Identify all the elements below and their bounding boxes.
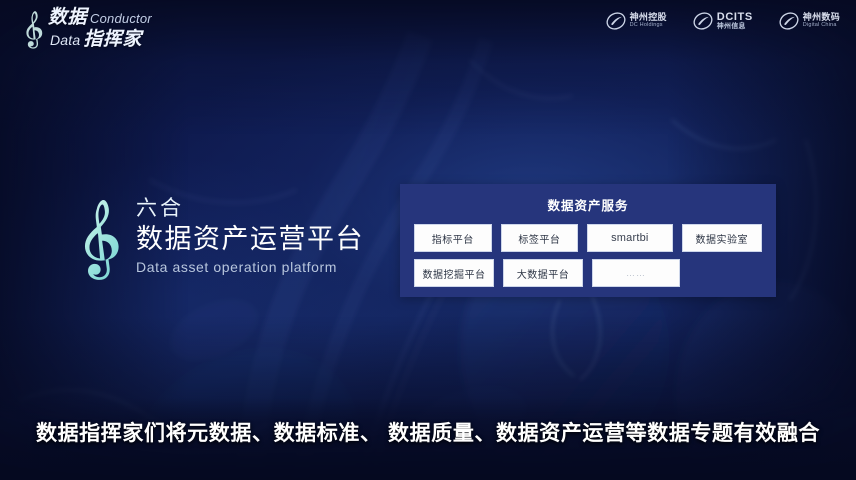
partner-logo-dcits[interactable]: DCITS 神州信息 — [693, 11, 753, 31]
data-asset-service-panel: 数据资产服务 指标平台 标签平台 smartbi 数据实验室 数据挖掘平台 大数… — [400, 184, 776, 297]
service-card-zhibiao-pingtai[interactable]: 指标平台 — [414, 224, 492, 252]
product-title: 数据资产运营平台 — [136, 226, 364, 253]
service-card-shuju-wajue-pingtai[interactable]: 数据挖掘平台 — [414, 259, 494, 287]
brand-cn-secondary: 指挥家 — [83, 30, 142, 49]
dc-swoosh-icon — [606, 11, 626, 31]
brand-en-secondary: Data — [50, 33, 80, 47]
dc-swoosh-icon — [779, 11, 799, 31]
service-card-row: 指标平台 标签平台 smartbi 数据实验室 — [414, 224, 762, 252]
brand-line-bottom: Data 指挥家 — [50, 30, 152, 49]
brand-line-top: 数据 Conductor — [48, 8, 152, 27]
partner-name-en: Digital China — [803, 23, 840, 29]
service-card-more[interactable]: …… — [592, 259, 680, 287]
service-card-shuju-shiyanshi[interactable]: 数据实验室 — [682, 224, 763, 252]
panel-title: 数据资产服务 — [400, 195, 776, 214]
product-title-en: Data asset operation platform — [136, 260, 364, 274]
treble-clef-icon — [72, 183, 126, 289]
service-card-dashuju-pingtai[interactable]: 大数据平台 — [503, 259, 583, 287]
product-identity: 六合 数据资产运营平台 Data asset operation platfor… — [72, 183, 364, 289]
caption-text: 数据指挥家们将元数据、数据标准、 数据质量、数据资产运营等数据专题有效融合 — [0, 417, 856, 447]
dc-swoosh-icon — [693, 11, 713, 31]
treble-clef-icon — [20, 6, 46, 50]
partner-text: 神州数码 Digital China — [803, 13, 840, 28]
product-text-group: 六合 数据资产运营平台 Data asset operation platfor… — [136, 198, 364, 274]
partner-name-en: DC Holdings — [630, 23, 667, 29]
partner-logo-digital-china[interactable]: 神州数码 Digital China — [779, 11, 840, 31]
partner-logo-dc-holdings[interactable]: 神州控股 DC Holdings — [606, 11, 667, 31]
header-bar: 数据 Conductor Data 指挥家 神州控股 DC Holdings — [0, 0, 856, 58]
service-card-smartbi[interactable]: smartbi — [587, 224, 672, 252]
partner-logo-group: 神州控股 DC Holdings DCITS 神州信息 — [606, 11, 840, 31]
partner-text: DCITS 神州信息 — [717, 12, 753, 31]
service-card-row: 数据挖掘平台 大数据平台 …… — [414, 259, 762, 287]
service-card-biaoqian-pingtai[interactable]: 标签平台 — [501, 224, 579, 252]
brand-cn-primary: 数据 — [48, 8, 87, 27]
brand-en-primary: Conductor — [90, 12, 152, 25]
service-card-grid: 指标平台 标签平台 smartbi 数据实验室 数据挖掘平台 大数据平台 …… — [400, 224, 776, 287]
brand-wordmark: 数据 Conductor Data 指挥家 — [48, 8, 152, 49]
product-subtitle: 六合 — [136, 198, 364, 219]
partner-name-en: 神州信息 — [717, 23, 753, 30]
brand-logo[interactable]: 数据 Conductor Data 指挥家 — [20, 6, 152, 50]
partner-name-cn: DCITS — [717, 12, 753, 24]
slide-root: 数据 Conductor Data 指挥家 神州控股 DC Holdings — [0, 0, 856, 480]
partner-text: 神州控股 DC Holdings — [630, 13, 667, 28]
